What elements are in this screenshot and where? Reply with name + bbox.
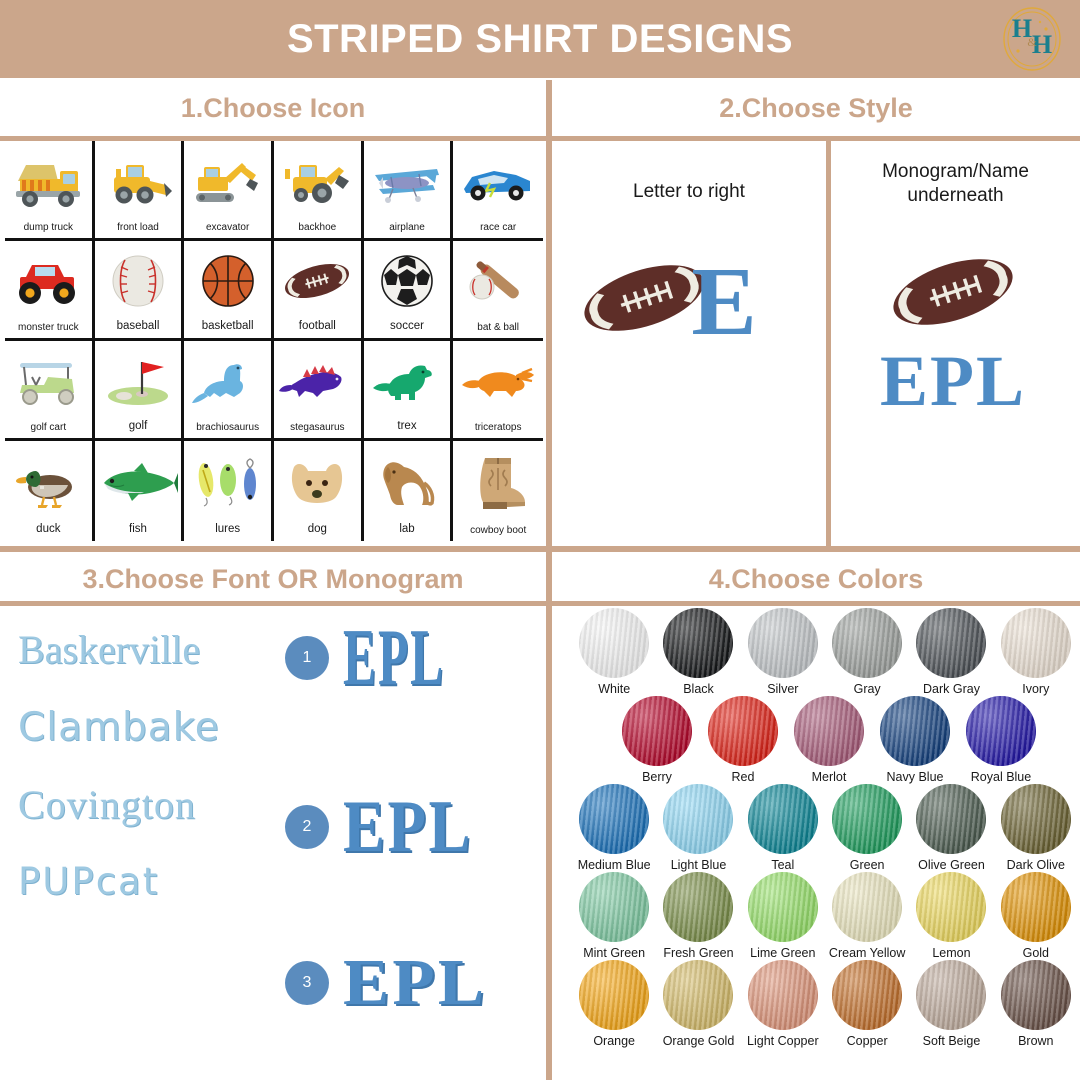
icon-cell-duck[interactable]: duck <box>5 441 95 541</box>
icon-cell-fish[interactable]: fish <box>95 441 185 541</box>
color-swatch-ivory[interactable]: Ivory <box>994 608 1078 696</box>
icon-cell-baseball[interactable]: baseball <box>95 241 185 341</box>
color-swatch-light-blue[interactable]: Light Blue <box>656 784 740 872</box>
thread-spool-icon <box>1001 784 1071 854</box>
color-swatch-copper[interactable]: Copper <box>825 960 909 1048</box>
fishing-lures-icon <box>184 441 271 523</box>
thread-spool-icon <box>663 872 733 942</box>
thread-spool-icon <box>832 960 902 1030</box>
icon-label: monster truck <box>18 322 79 336</box>
color-swatch-lemon[interactable]: Lemon <box>909 872 993 960</box>
font-option-pupcat[interactable]: PUPcat <box>18 863 308 900</box>
backhoe-icon <box>274 141 361 222</box>
icon-cell-dump-truck[interactable]: dump truck <box>5 141 95 241</box>
color-swatch-merlot[interactable]: Merlot <box>786 696 872 784</box>
color-swatch-orange[interactable]: Orange <box>572 960 656 1048</box>
baseball-icon <box>95 241 182 320</box>
color-swatch-black[interactable]: Black <box>656 608 740 696</box>
icon-label: dog <box>308 523 327 539</box>
icon-label: lab <box>399 523 414 539</box>
color-label: Light Copper <box>747 1034 819 1048</box>
color-label: Royal Blue <box>971 770 1031 784</box>
style-label: Monogram/Name underneath <box>882 160 1029 208</box>
icon-label: front load <box>117 222 159 236</box>
color-label: Black <box>683 682 714 696</box>
thread-spool-icon <box>748 784 818 854</box>
color-label: Dark Olive <box>1007 858 1065 872</box>
color-swatch-olive-green[interactable]: Olive Green <box>909 784 993 872</box>
icon-cell-golf[interactable]: golf <box>95 341 185 441</box>
color-label: Medium Blue <box>578 858 651 872</box>
style-monogram: EPL <box>880 341 1026 421</box>
style-sample-monogram-under: EPL <box>848 230 1063 450</box>
monogram-option-2[interactable]: 2 EPL <box>285 790 496 864</box>
icon-label: fish <box>129 523 147 539</box>
race-car-icon <box>453 141 543 222</box>
section-4-title: 4.Choose Colors <box>709 564 924 595</box>
monogram-sample-3: EPL <box>343 950 487 1016</box>
thread-spool-icon <box>794 696 864 766</box>
icon-cell-cowboy-boot[interactable]: cowboy boot <box>453 441 543 541</box>
color-swatch-brown[interactable]: Brown <box>994 960 1078 1048</box>
color-label: Green <box>850 858 885 872</box>
icon-label: backhoe <box>298 222 336 236</box>
style-label: Letter to right <box>633 180 745 204</box>
section-2-header: 2.Choose Style <box>552 80 1080 136</box>
icon-label: bat & ball <box>477 322 519 336</box>
color-grid: White Black Silver Gray Dark Gray Ivory <box>556 608 1078 1078</box>
color-label: Berry <box>642 770 672 784</box>
icon-label: airplane <box>389 222 425 236</box>
color-label: Soft Beige <box>923 1034 981 1048</box>
color-label: Lemon <box>932 946 970 960</box>
color-label: Dark Gray <box>923 682 980 696</box>
football-icon <box>274 241 361 320</box>
monogram-badge-1: 1 <box>285 636 329 680</box>
thread-spool-icon <box>832 784 902 854</box>
monogram-option-1[interactable]: 1 EPL <box>285 618 508 698</box>
monogram-badge-3: 3 <box>285 961 329 1005</box>
icon-label: golf cart <box>31 422 67 436</box>
labrador-icon <box>364 441 451 523</box>
color-swatch-navy-blue[interactable]: Navy Blue <box>872 696 958 784</box>
color-swatch-red[interactable]: Red <box>700 696 786 784</box>
section-4-header: 4.Choose Colors <box>552 552 1080 606</box>
icon-cell-basketball[interactable]: basketball <box>184 241 274 341</box>
color-label: Fresh Green <box>663 946 733 960</box>
style-letter: E <box>691 248 756 356</box>
thread-spool-icon <box>916 784 986 854</box>
divider-under-section-2 <box>552 136 1080 141</box>
section-3-title: 3.Choose Font OR Monogram <box>83 564 464 595</box>
style-option-monogram-underneath[interactable]: Monogram/Name underneath EPL <box>831 160 1080 450</box>
divider-vertical-bottom <box>546 552 552 1080</box>
svg-text:&: & <box>1027 35 1037 49</box>
color-swatch-royal-blue[interactable]: Royal Blue <box>958 696 1044 784</box>
divider-under-section-3 <box>0 601 546 606</box>
thread-spool-icon <box>748 872 818 942</box>
icon-label: soccer <box>390 320 424 336</box>
brand-logo-icon: H H & <box>998 5 1066 73</box>
style-sample-letter-right: E <box>574 226 804 361</box>
icon-grid: dump truck front load <box>5 141 543 541</box>
icon-label: trex <box>397 420 416 436</box>
page-header: STRIPED SHIRT DESIGNS H H & <box>0 0 1080 78</box>
cowboy-boot-icon <box>453 441 543 525</box>
icon-cell-soccer[interactable]: soccer <box>364 241 454 341</box>
icon-cell-triceratops[interactable]: triceratops <box>453 341 543 441</box>
monogram-sample-1: EPL <box>343 618 445 698</box>
thread-spool-icon <box>748 960 818 1030</box>
color-row-4: Mint Green Fresh Green Lime Green Cream … <box>572 872 1078 960</box>
font-option-covington[interactable]: Covington <box>18 785 308 825</box>
section-2-title: 2.Choose Style <box>719 93 913 124</box>
color-label: Lime Green <box>750 946 815 960</box>
color-swatch-orange-gold[interactable]: Orange Gold <box>656 960 740 1048</box>
font-option-list: Baskerville Clambake Covington PUPcat <box>18 630 308 938</box>
color-label: Merlot <box>812 770 847 784</box>
color-label: Orange <box>593 1034 635 1048</box>
icon-cell-brachiosaurus[interactable]: brachiosaurus <box>184 341 274 441</box>
thread-spool-icon <box>663 608 733 678</box>
excavator-icon <box>184 141 271 222</box>
golf-cart-icon <box>5 341 92 422</box>
icon-cell-dog[interactable]: dog <box>274 441 364 541</box>
trex-icon <box>364 341 451 420</box>
section-3-header: 3.Choose Font OR Monogram <box>0 552 546 606</box>
color-label: Gold <box>1023 946 1049 960</box>
color-label: Ivory <box>1022 682 1049 696</box>
color-swatch-fresh-green[interactable]: Fresh Green <box>656 872 740 960</box>
basketball-icon <box>184 241 271 320</box>
thread-spool-icon <box>832 608 902 678</box>
style-option-letter-to-right[interactable]: Letter to right E <box>552 180 826 361</box>
icon-cell-lab[interactable]: lab <box>364 441 454 541</box>
thread-spool-icon <box>1001 960 1071 1030</box>
color-label: Gray <box>854 682 881 696</box>
icon-label: brachiosaurus <box>196 422 259 436</box>
color-swatch-berry[interactable]: Berry <box>614 696 700 784</box>
thread-spool-icon <box>916 872 986 942</box>
icon-cell-lures[interactable]: lures <box>184 441 274 541</box>
icon-label: baseball <box>117 320 160 336</box>
color-row-1: White Black Silver Gray Dark Gray Ivory <box>572 608 1078 696</box>
duck-icon <box>5 441 92 523</box>
color-label: Navy Blue <box>887 770 944 784</box>
icon-cell-golf-cart[interactable]: golf cart <box>5 341 95 441</box>
color-swatch-silver[interactable]: Silver <box>741 608 825 696</box>
thread-spool-icon <box>708 696 778 766</box>
bat-and-ball-icon <box>453 241 543 322</box>
color-label: Mint Green <box>583 946 645 960</box>
icon-cell-airplane[interactable]: airplane <box>364 141 454 241</box>
thread-spool-icon <box>663 960 733 1030</box>
icon-cell-backhoe[interactable]: backhoe <box>274 141 364 241</box>
font-option-baskerville[interactable]: Baskerville <box>18 630 308 670</box>
color-swatch-cream-yellow[interactable]: Cream Yellow <box>825 872 909 960</box>
color-swatch-white[interactable]: White <box>572 608 656 696</box>
color-label: Silver <box>767 682 798 696</box>
icon-cell-bat-and-ball[interactable]: bat & ball <box>453 241 543 341</box>
dog-face-icon <box>274 441 361 523</box>
color-swatch-dark-olive[interactable]: Dark Olive <box>994 784 1078 872</box>
thread-spool-icon <box>579 960 649 1030</box>
color-swatch-green[interactable]: Green <box>825 784 909 872</box>
thread-spool-icon <box>579 608 649 678</box>
thread-spool-icon <box>748 608 818 678</box>
icon-cell-football[interactable]: football <box>274 241 364 341</box>
monogram-sample-2: EPL <box>343 790 473 864</box>
icon-label: lures <box>215 523 240 539</box>
color-row-2: Berry Red Merlot Navy Blue Royal Blue <box>614 696 1078 784</box>
color-label: Cream Yellow <box>829 946 905 960</box>
poster-root: STRIPED SHIRT DESIGNS H H & 1.Choose Ico… <box>0 0 1080 1080</box>
color-swatch-gold[interactable]: Gold <box>994 872 1078 960</box>
font-option-clambake[interactable]: Clambake <box>18 708 308 747</box>
color-label: Teal <box>771 858 794 872</box>
color-row-3: Medium Blue Light Blue Teal Green Olive … <box>572 784 1078 872</box>
color-swatch-lime-green[interactable]: Lime Green <box>741 872 825 960</box>
fish-icon <box>95 441 182 523</box>
color-label: Copper <box>847 1034 888 1048</box>
color-swatch-light-copper[interactable]: Light Copper <box>741 960 825 1048</box>
airplane-icon <box>364 141 451 222</box>
page-title: STRIPED SHIRT DESIGNS <box>287 17 793 62</box>
monogram-badge-2: 2 <box>285 805 329 849</box>
icon-cell-excavator[interactable]: excavator <box>184 141 274 241</box>
icon-label: cowboy boot <box>470 525 526 539</box>
color-label: White <box>598 682 630 696</box>
icon-label: excavator <box>206 222 249 236</box>
divider-under-section-4 <box>552 601 1080 606</box>
thread-spool-icon <box>1001 872 1071 942</box>
icon-label: triceratops <box>475 422 522 436</box>
front-loader-icon <box>95 141 182 222</box>
section-1-header: 1.Choose Icon <box>0 80 546 136</box>
monster-truck-icon <box>5 241 92 322</box>
thread-spool-icon <box>579 872 649 942</box>
thread-spool-icon <box>663 784 733 854</box>
thread-spool-icon <box>832 872 902 942</box>
golf-flag-icon <box>95 341 182 420</box>
triceratops-icon <box>453 341 543 422</box>
stegosaurus-icon <box>274 341 361 422</box>
icon-label: basketball <box>202 320 254 336</box>
icon-cell-monster-truck[interactable]: monster truck <box>5 241 95 341</box>
thread-spool-icon <box>1001 608 1071 678</box>
color-swatch-medium-blue[interactable]: Medium Blue <box>572 784 656 872</box>
icon-label: duck <box>36 523 60 539</box>
dump-truck-icon <box>5 141 92 222</box>
icon-label: dump truck <box>24 222 73 236</box>
icon-cell-stegasaurus[interactable]: stegasaurus <box>274 341 364 441</box>
color-row-5: Orange Orange Gold Light Copper Copper S… <box>572 960 1078 1048</box>
icon-cell-front-load[interactable]: front load <box>95 141 185 241</box>
color-label: Brown <box>1018 1034 1053 1048</box>
color-swatch-dark-gray[interactable]: Dark Gray <box>909 608 993 696</box>
thread-spool-icon <box>579 784 649 854</box>
color-swatch-soft-beige[interactable]: Soft Beige <box>909 960 993 1048</box>
thread-spool-icon <box>622 696 692 766</box>
color-label: Olive Green <box>918 858 985 872</box>
icon-cell-race-car[interactable]: race car <box>453 141 543 241</box>
thread-spool-icon <box>916 608 986 678</box>
icon-label: golf <box>129 420 148 436</box>
color-label: Light Blue <box>671 858 727 872</box>
monogram-option-3[interactable]: 3 EPL <box>285 950 480 1016</box>
color-swatch-teal[interactable]: Teal <box>741 784 825 872</box>
icon-label: stegasaurus <box>290 422 344 436</box>
color-label: Red <box>732 770 755 784</box>
thread-spool-icon <box>966 696 1036 766</box>
thread-spool-icon <box>916 960 986 1030</box>
icon-cell-trex[interactable]: trex <box>364 341 454 441</box>
color-label: Orange Gold <box>663 1034 735 1048</box>
icon-label: race car <box>480 222 516 236</box>
icon-label: football <box>299 320 336 336</box>
color-swatch-gray[interactable]: Gray <box>825 608 909 696</box>
color-swatch-mint-green[interactable]: Mint Green <box>572 872 656 960</box>
section-1-title: 1.Choose Icon <box>181 93 366 124</box>
thread-spool-icon <box>880 696 950 766</box>
brachiosaurus-icon <box>184 341 271 422</box>
soccer-ball-icon <box>364 241 451 320</box>
